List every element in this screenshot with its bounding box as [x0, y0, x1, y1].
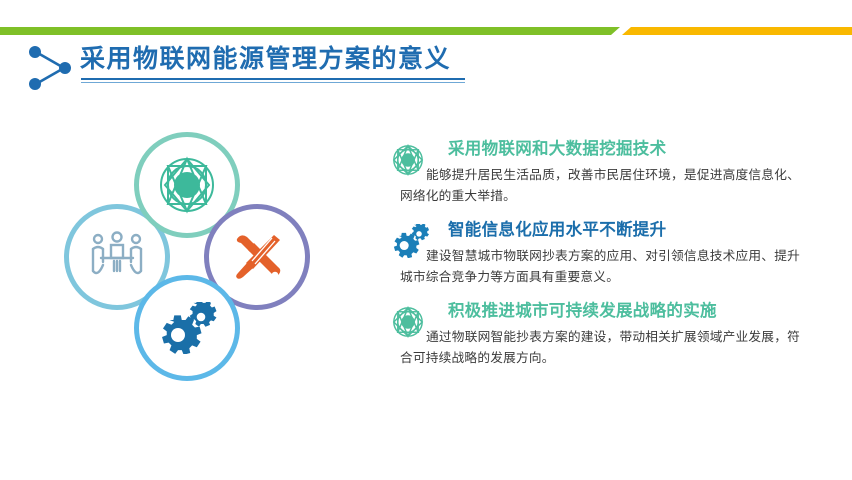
gears-icon: [156, 302, 218, 354]
content-list: 采用物联网和大数据挖掘技术 能够提升居民生活品质，改善市民居住环境，是促进高度信…: [386, 138, 818, 381]
top-accent-bar-orange: [622, 27, 852, 35]
network-mesh-icon: [157, 155, 217, 215]
page-title: 采用物联网能源管理方案的意义: [80, 42, 451, 76]
content-item-heading: 采用物联网和大数据挖掘技术: [448, 138, 818, 160]
title-underline-primary: [81, 78, 465, 80]
title-underline-secondary: [81, 82, 465, 83]
content-item-body: 建设智慧城市物联网抄表方案的应用、对引领信息技术应用、提升城市综合竞争力等方面具…: [400, 245, 800, 287]
slide-canvas: 采用物联网能源管理方案的意义: [0, 0, 852, 480]
gears-icon: [390, 224, 430, 258]
network-mesh-icon: [390, 305, 430, 339]
wrench-screwdriver-icon: [228, 228, 286, 286]
share-node-icon: [24, 44, 80, 92]
top-accent-bar-green: [0, 27, 620, 35]
top-accent-bar: [0, 27, 852, 35]
network-mesh-icon: [390, 143, 430, 177]
content-item-heading: 智能信息化应用水平不断提升: [448, 219, 818, 241]
people-meeting-icon: [86, 230, 148, 284]
content-item: 积极推进城市可持续发展战略的实施 通过物联网智能抄表方案的建设，带动相关扩展领域…: [386, 300, 818, 368]
four-circle-cluster: [52, 132, 314, 382]
content-item: 采用物联网和大数据挖掘技术 能够提升居民生活品质，改善市民居住环境，是促进高度信…: [386, 138, 818, 206]
content-item-body: 通过物联网智能抄表方案的建设，带动相关扩展领域产业发展，符合可持续战略的发展方向…: [400, 326, 800, 368]
content-item-body: 能够提升居民生活品质，改善市民居住环境，是促进高度信息化、网络化的重大举措。: [400, 164, 800, 206]
cluster-circle-bottom: [134, 275, 240, 381]
content-item: 智能信息化应用水平不断提升 建设智慧城市物联网抄表方案的应用、对引领信息技术应用…: [386, 219, 818, 287]
content-item-heading: 积极推进城市可持续发展战略的实施: [448, 300, 818, 322]
